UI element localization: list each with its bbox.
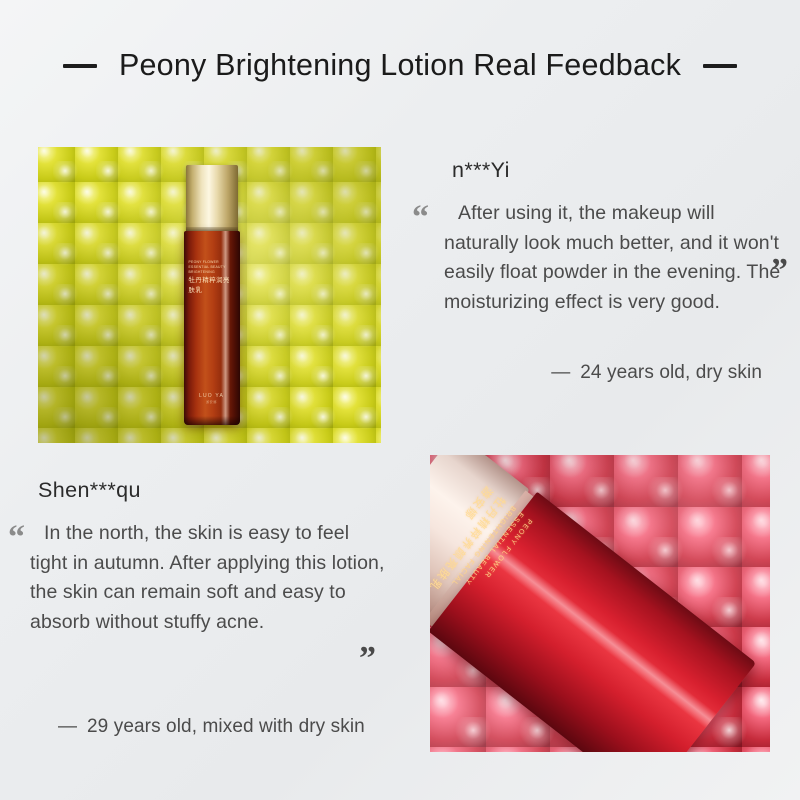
reviewer-name-2: Shen***qu: [38, 478, 390, 503]
quote-text-2: In the north, the skin is easy to feel t…: [30, 519, 390, 638]
attribution-1: —24 years old, dry skin: [444, 362, 784, 384]
upright-bottle-gold-cap: [186, 165, 238, 233]
attribution-dash-1: —: [551, 362, 570, 383]
product-photo-tilted-bottle[interactable]: PEONY FLOWER ESSENTIAL BEAUTY BRIGHTENIN…: [430, 455, 770, 752]
upright-label-chinese: 牡丹精粹润亮肤乳: [189, 276, 235, 295]
quote-block-2: “ In the north, the skin is easy to feel…: [30, 519, 390, 638]
quote-close-icon-2: ”: [359, 642, 376, 676]
upright-brand-chinese: 游安娜: [184, 400, 240, 404]
upright-bottle: PEONY FLOWER ESSENTIAL BEAUTY BRIGHTENIN…: [184, 165, 240, 425]
upright-bottle-body: PEONY FLOWER ESSENTIAL BEAUTY BRIGHTENIN…: [184, 231, 240, 425]
quote-open-icon-2: “: [8, 521, 25, 555]
quote-block-1: “ After using it, the makeup will natura…: [444, 199, 784, 318]
attribution-2: —29 years old, mixed with dry skin: [30, 716, 390, 738]
quote-close-icon-1: ”: [771, 254, 788, 288]
testimonial-card-2: Shen***qu “ In the north, the skin is ea…: [30, 478, 390, 738]
quote-open-icon-1: “: [412, 201, 429, 235]
quote-text-1: After using it, the makeup will naturall…: [444, 199, 784, 318]
attribution-dash-2: —: [58, 716, 77, 737]
attribution-text-2: 29 years old, mixed with dry skin: [87, 716, 365, 737]
testimonial-card-1: n***Yi “ After using it, the makeup will…: [444, 158, 784, 384]
attribution-text-1: 24 years old, dry skin: [580, 362, 762, 383]
upright-bottle-label: PEONY FLOWER ESSENTIAL BEAUTY BRIGHTENIN…: [189, 260, 235, 295]
reviewer-name-1: n***Yi: [452, 158, 784, 183]
photo-inner-upright: PEONY FLOWER ESSENTIAL BEAUTY BRIGHTENIN…: [38, 147, 381, 443]
feedback-page: Peony Brightening Lotion Real Feedback P…: [0, 0, 800, 800]
title-right-dash-icon: [703, 64, 737, 68]
upright-label-line-3: BRIGHTENING: [189, 270, 235, 275]
upright-bottle-brand: LUO YA 游安娜: [184, 393, 240, 404]
product-photo-upright-bottle[interactable]: PEONY FLOWER ESSENTIAL BEAUTY BRIGHTENIN…: [38, 147, 381, 443]
upright-brand-text: LUO YA: [199, 393, 224, 399]
photo-inner-tilted: PEONY FLOWER ESSENTIAL BEAUTY BRIGHTENIN…: [430, 455, 770, 752]
title-left-dash-icon: [63, 64, 97, 68]
page-title: Peony Brightening Lotion Real Feedback: [119, 48, 681, 83]
page-header: Peony Brightening Lotion Real Feedback: [0, 48, 800, 83]
